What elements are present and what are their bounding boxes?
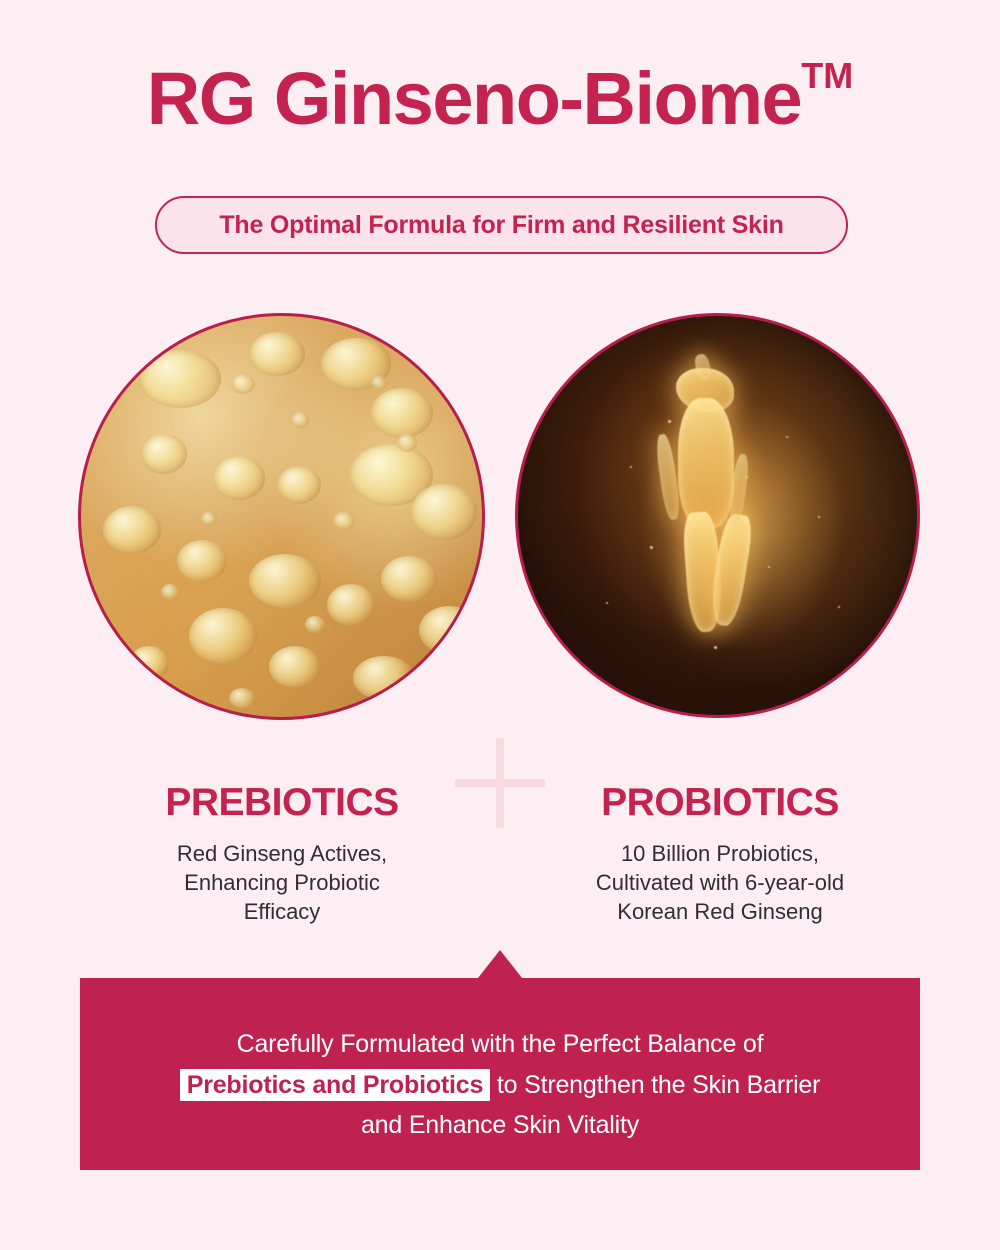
page-title-text: RG Ginseno-Biome [147, 57, 801, 140]
prebiotics-description: Red Ginseng Actives, Enhancing Probiotic… [72, 839, 492, 926]
probiotics-column: PROBIOTICS 10 Billion Probiotics, Cultiv… [510, 782, 930, 926]
probiotics-image-circle [515, 313, 920, 718]
plus-separator-icon [455, 738, 545, 828]
banner-line-1: Carefully Formulated with the Perfect Ba… [237, 1030, 764, 1058]
banner-line-3: and Enhance Skin Vitality [361, 1111, 639, 1139]
subtitle-pill: The Optimal Formula for Firm and Resilie… [155, 196, 848, 254]
subtitle-text: The Optimal Formula for Firm and Resilie… [219, 211, 783, 240]
probiotics-heading: PROBIOTICS [510, 782, 930, 825]
banner-line-2: to Strengthen the Skin Barrier [490, 1071, 820, 1099]
summary-banner-text: Carefully Formulated with the Perfect Ba… [80, 1024, 920, 1146]
page-title-wrap: RG Ginseno-BiomeTM [0, 62, 1000, 136]
prebiotics-column: PREBIOTICS Red Ginseng Actives, Enhancin… [72, 782, 492, 926]
product-infographic: RG Ginseno-BiomeTM The Optimal Formula f… [0, 0, 1000, 1250]
banner-highlight: Prebiotics and Probiotics [180, 1069, 490, 1101]
trademark-symbol: TM [801, 55, 853, 96]
prebiotics-heading: PREBIOTICS [72, 782, 492, 825]
prebiotics-image-circle [78, 313, 485, 720]
plus-vertical-bar [496, 738, 504, 828]
summary-banner: Carefully Formulated with the Perfect Ba… [80, 978, 920, 1170]
banner-pointer-triangle [478, 950, 522, 978]
probiotics-description: 10 Billion Probiotics, Cultivated with 6… [510, 839, 930, 926]
page-title: RG Ginseno-BiomeTM [147, 62, 853, 136]
